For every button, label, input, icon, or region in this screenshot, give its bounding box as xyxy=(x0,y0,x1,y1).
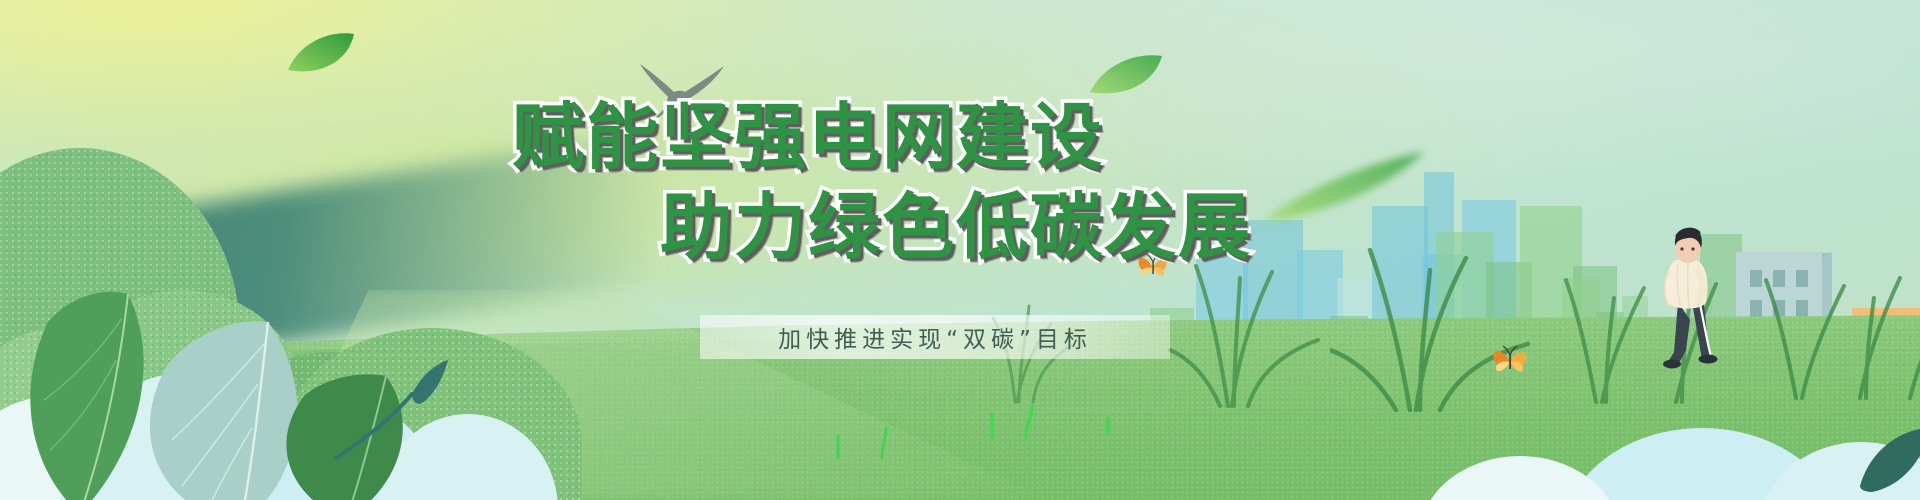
leaf-bottom-right xyxy=(1852,424,1920,494)
grass-cluster-right-2 xyxy=(1330,242,1530,412)
swallow-bird-icon xyxy=(620,62,730,132)
butterfly-icon-2 xyxy=(1490,344,1530,378)
leaf-floating-top-right xyxy=(1088,52,1164,100)
person-walking xyxy=(1648,224,1728,374)
grass-cluster-right-4 xyxy=(1760,260,1920,400)
subtitle-text: 加快推进实现“双碳”目标 xyxy=(700,315,1170,359)
leaf-floating-blurred xyxy=(1258,148,1428,228)
leaf-floating-top-left xyxy=(286,28,356,76)
grass-cluster-right-1 xyxy=(1168,248,1338,408)
eco-power-grid-banner: 赋能坚强电网建设 助力绿色低碳发展 加快推进实现“双碳”目标 xyxy=(0,0,1920,500)
leaf-on-stem xyxy=(330,352,450,462)
grass-sprigs xyxy=(980,390,1120,440)
butterfly-icon-1 xyxy=(1136,252,1170,282)
grass-sprigs-2 xyxy=(820,414,910,460)
